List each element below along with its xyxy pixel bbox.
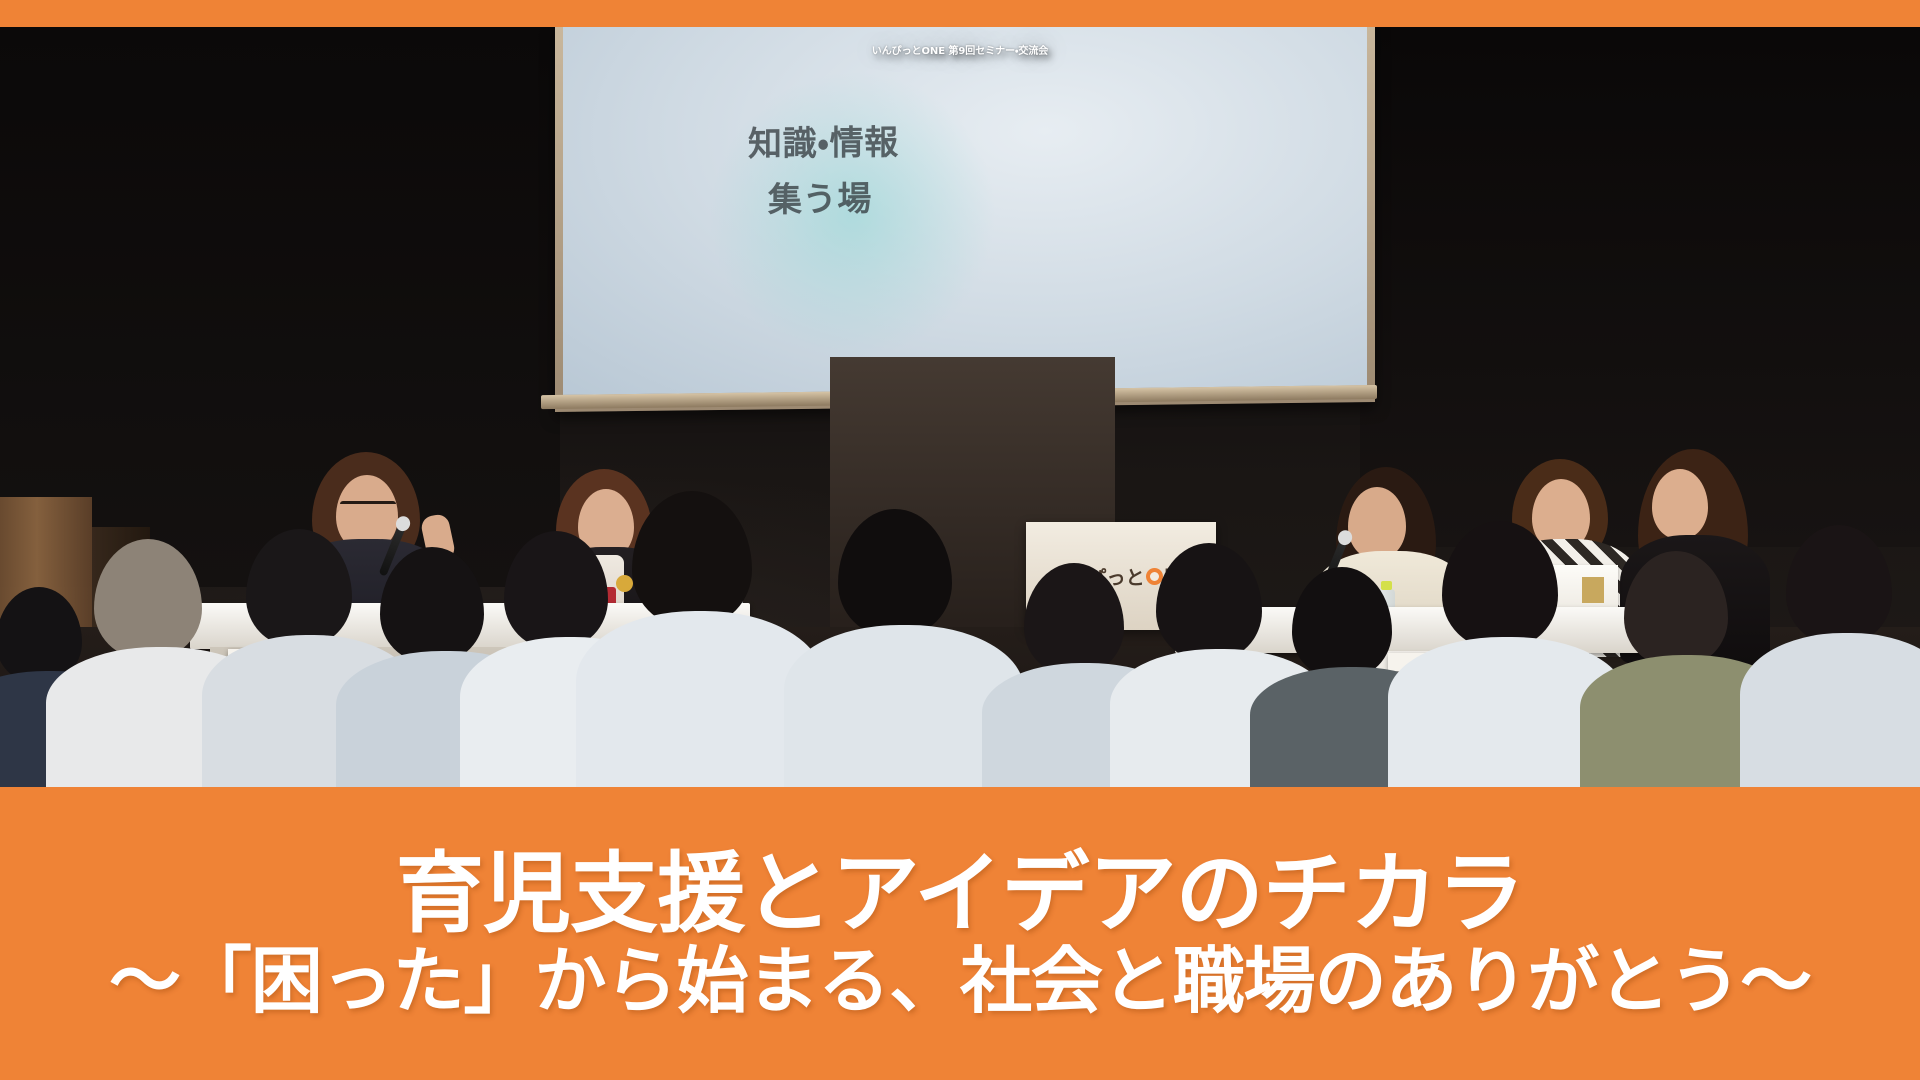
event-photo: 知識・情報 集う場 <box>0 27 1920 787</box>
subtitle-block: 育児支援とアイデアのチカラ 〜「困った」から始まる、社会と職場のありがとう〜 <box>0 787 1920 1080</box>
screen-slide-line2: 集う場 <box>768 171 872 221</box>
subtitle-line-1: 育児支援とアイデアのチカラ <box>396 849 1524 939</box>
seminar-banner: 知識・情報 集う場 <box>0 0 1920 1080</box>
audience-member <box>1740 517 1920 787</box>
top-accent-bar <box>0 0 1920 27</box>
projector-screen-frame: 知識・情報 集う場 <box>555 27 1375 412</box>
projector-screen: 知識・情報 集う場 <box>563 27 1367 395</box>
page-title: いんぴっとONE 第9回セミナー・交流会 <box>0 47 1920 57</box>
back-wall-right <box>1360 27 1920 547</box>
screen-slide-line1: 知識・情報 <box>748 115 899 166</box>
panelist-glasses-icon <box>340 501 396 515</box>
subtitle-line-2: 〜「困った」から始まる、社会と職場のありがとう〜 <box>109 945 1811 1018</box>
